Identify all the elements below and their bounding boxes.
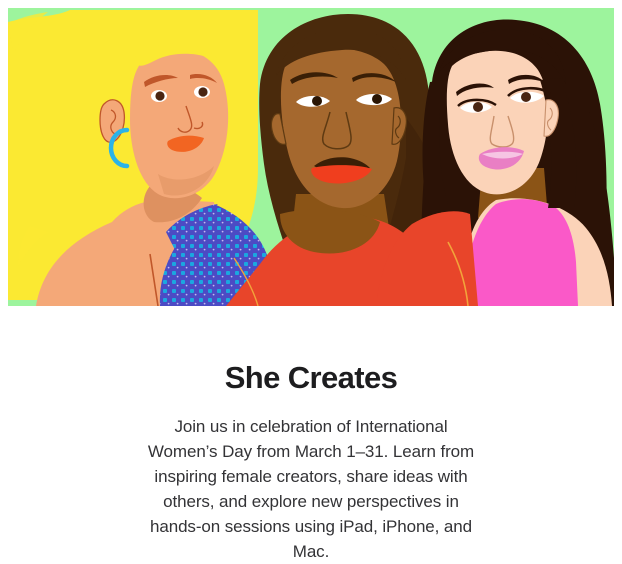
brunette-eye-right-iris <box>521 92 531 102</box>
blonde-eye-right-iris <box>198 87 207 96</box>
blonde-eye-left-iris <box>155 91 164 100</box>
promo-content: She Creates Join us in celebration of In… <box>0 306 622 564</box>
three-women-illustration <box>8 8 614 306</box>
figure-blonde-left <box>8 10 270 306</box>
promo-page: She Creates Join us in celebration of In… <box>0 0 622 548</box>
hero-illustration <box>8 8 614 306</box>
promo-description: Join us in celebration of International … <box>141 396 481 564</box>
page-title: She Creates <box>0 306 622 396</box>
blonde-face <box>130 50 228 198</box>
brunette-eye-left-iris <box>473 102 483 112</box>
center-eye-left-iris <box>312 96 322 106</box>
center-eye-right-iris <box>372 94 382 104</box>
